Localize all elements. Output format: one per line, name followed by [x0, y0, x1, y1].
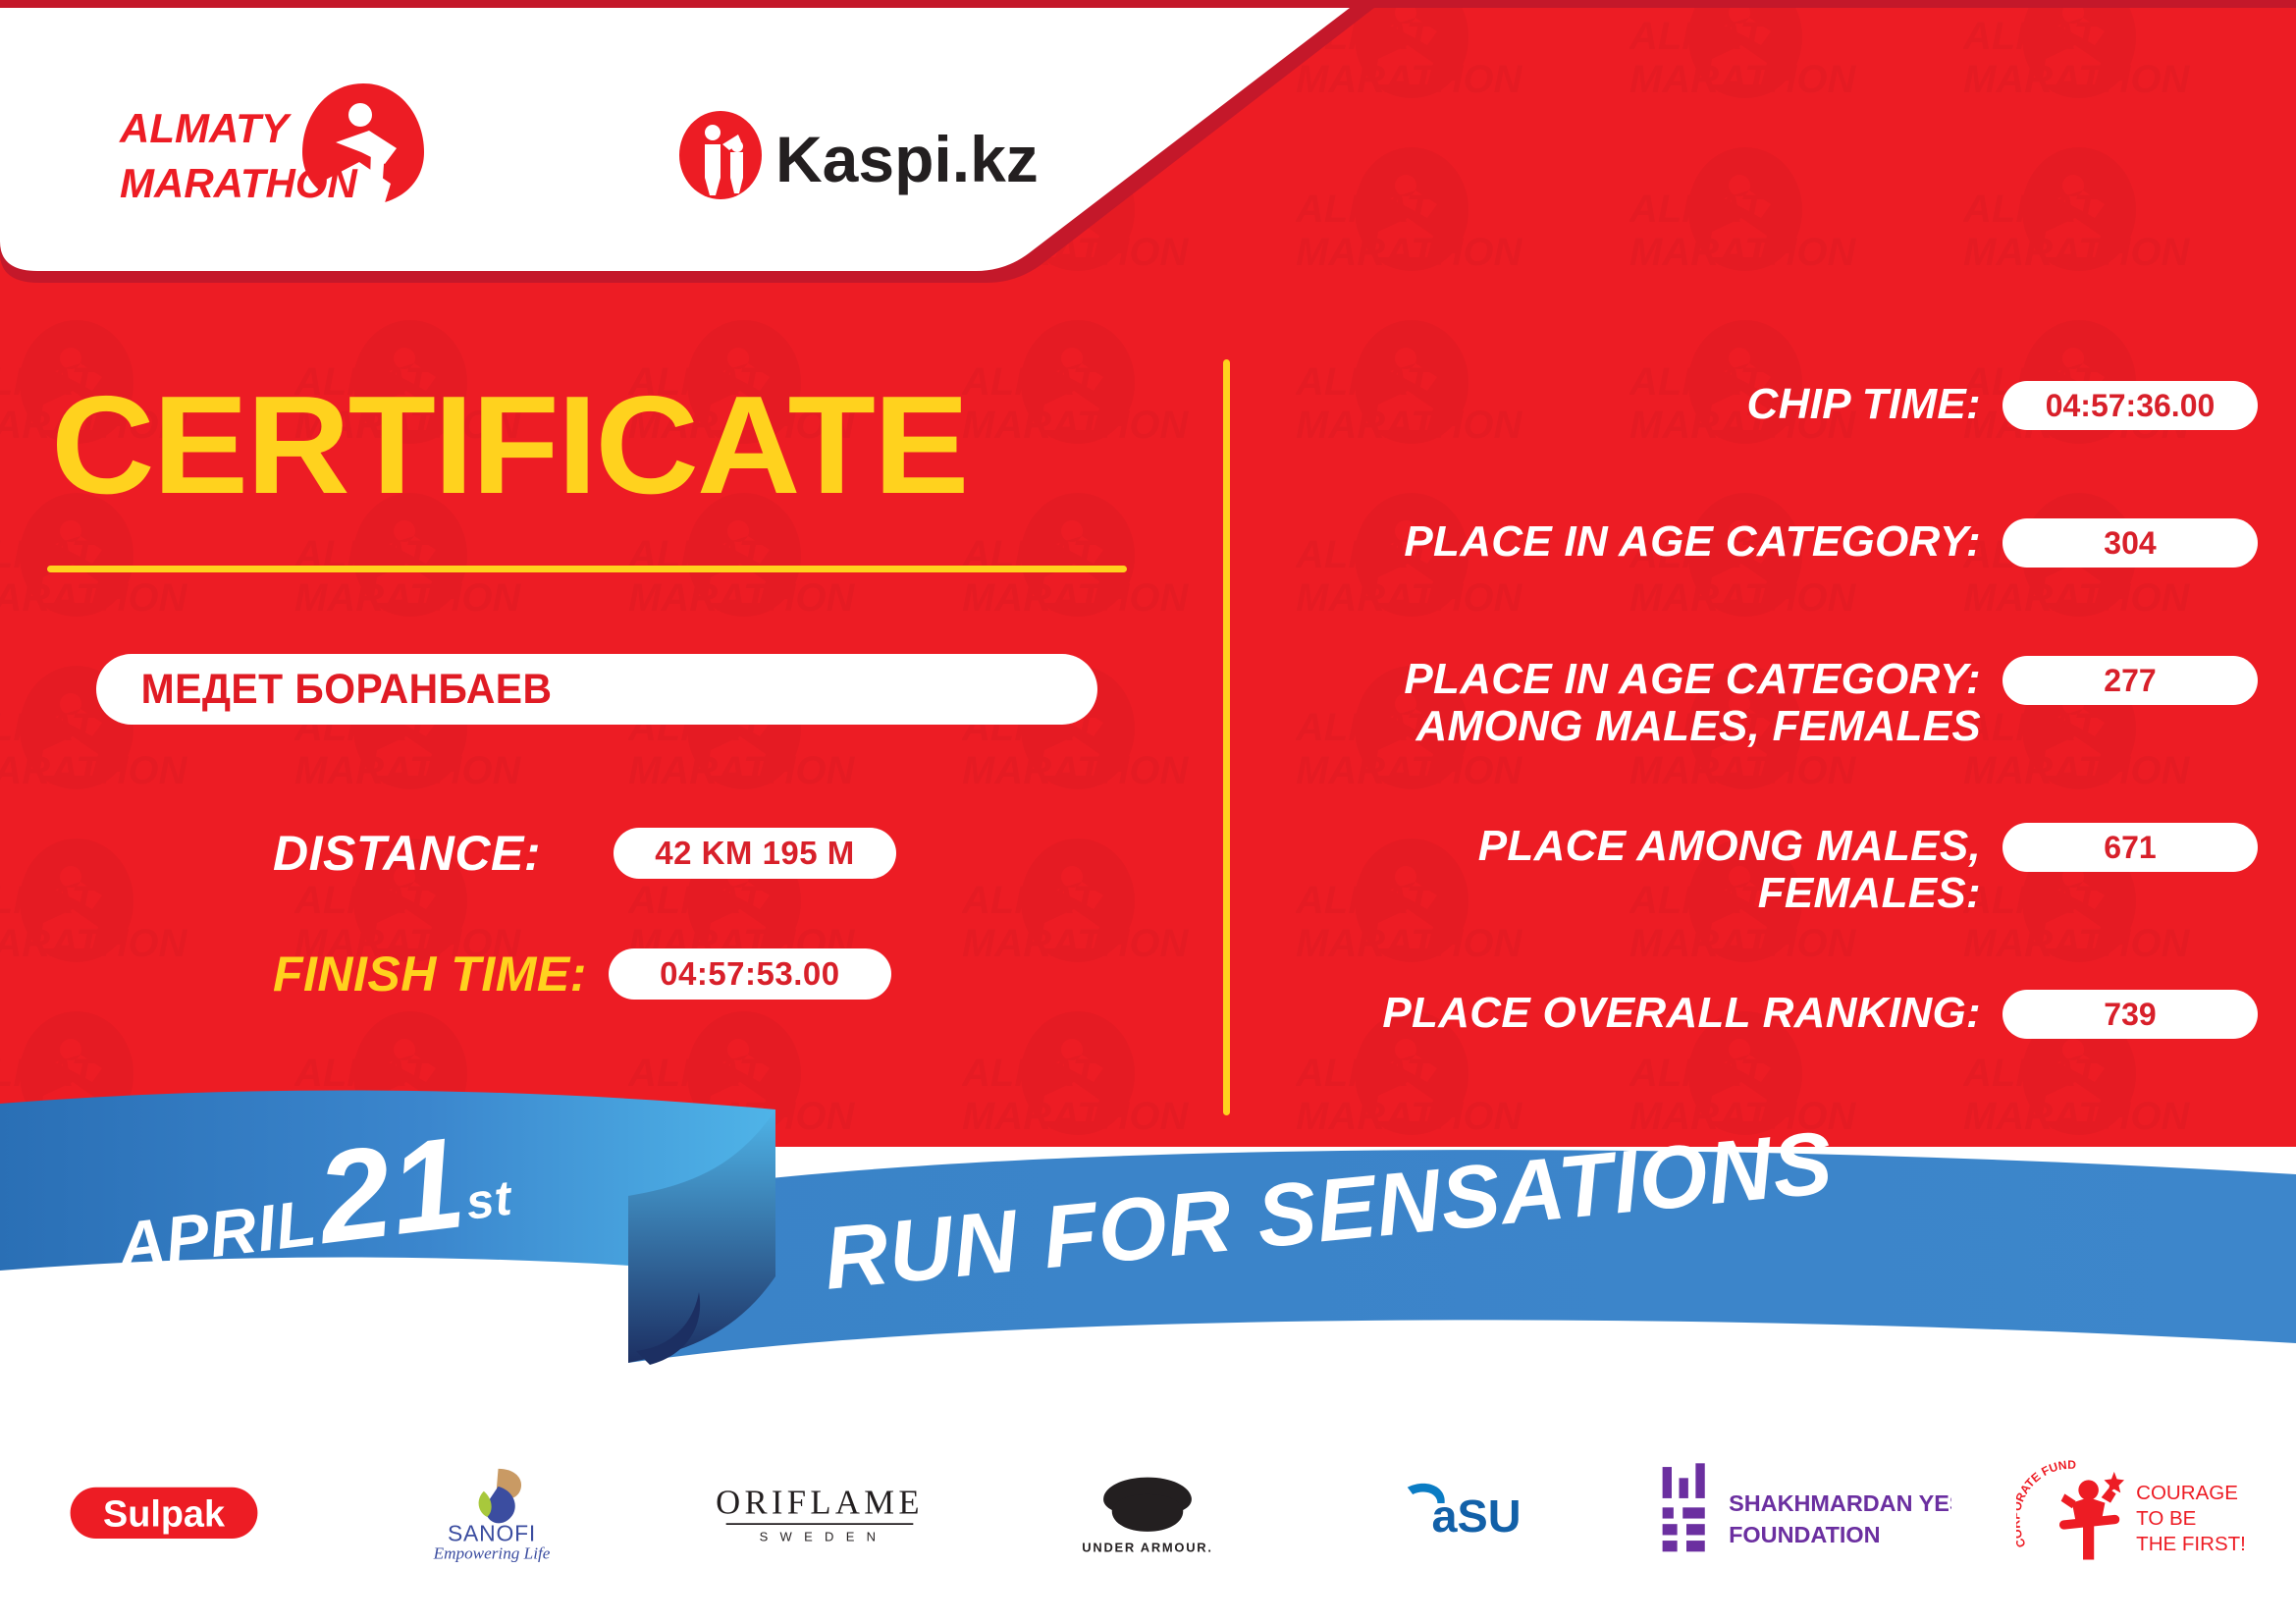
place-age-category-among-label: PLACE IN AGE CATEGORY:AMONG MALES, FEMAL…	[1276, 656, 2002, 749]
title-underline	[47, 566, 1127, 572]
sulpak-label: Sulpak	[103, 1493, 226, 1535]
finish-time-value-pill: 04:57:53.00	[609, 948, 891, 1000]
place-age-category-value: 304	[2104, 525, 2156, 562]
oriflame-tagline: S W E D E N	[760, 1529, 881, 1543]
distance-value: 42 KM 195 M	[655, 835, 855, 872]
stat-row-place-age-category-among: PLACE IN AGE CATEGORY:AMONG MALES, FEMAL…	[1276, 656, 2258, 749]
kaspi-logo: Kaspi.kz	[677, 111, 1070, 199]
chip-time-value: 04:57:36.00	[2046, 388, 2216, 424]
under-armour-logo: UNDER ARMOUR.	[1054, 1463, 1241, 1561]
distance-value-pill: 42 KM 195 M	[614, 828, 896, 879]
sponsor-sanofi: SANOFI Empowering Life	[328, 1438, 656, 1586]
red-body: ALMATY MARATHON ALMATY	[0, 8, 2296, 1147]
place-overall-ranking-value: 739	[2104, 997, 2156, 1033]
stat-row-place-overall-ranking: PLACE OVERALL RANKING: 739	[1276, 990, 2258, 1039]
place-age-category-among-value: 277	[2104, 663, 2156, 699]
courage-label-line3: THE FIRST!	[2137, 1533, 2247, 1555]
place-among-males-females-value-pill: 671	[2002, 823, 2258, 872]
ribbon-day: 21	[310, 1110, 473, 1271]
header-panel: ALMATY MARATHON Kaspi.kz	[0, 8, 1374, 283]
chip-time-value-pill: 04:57:36.00	[2002, 381, 2258, 430]
asu-label: aSU	[1431, 1490, 1521, 1542]
sponsor-yessenov-foundation: SHAKHMARDAN YESSENOV FOUNDATION	[1640, 1438, 1968, 1586]
courage-label-line1: COURAGE	[2137, 1482, 2239, 1504]
top-rule	[0, 0, 2296, 8]
yessenov-label-line1: SHAKHMARDAN YESSENOV	[1729, 1490, 1951, 1516]
svg-text:ALMATY: ALMATY	[119, 105, 293, 151]
sanofi-tagline: Empowering Life	[433, 1543, 551, 1562]
place-age-category-value-pill: 304	[2002, 518, 2258, 568]
sponsor-oriflame: ORIFLAME S W E D E N	[656, 1438, 984, 1586]
under-armour-label: UNDER ARMOUR.	[1083, 1541, 1213, 1555]
courage-to-be-the-first-logo: CORPORATE FUND COURAGE TO BE THE FIRST!	[2016, 1457, 2247, 1567]
oriflame-logo: ORIFLAME S W E D E N	[692, 1478, 947, 1546]
asu-logo: aSU	[1388, 1477, 1565, 1547]
certificate: ALMATY MARATHON ALMATY	[0, 0, 2296, 1624]
column-divider	[1223, 359, 1230, 1115]
finish-time-label: FINISH TIME:	[273, 946, 587, 1002]
shakhmardan-yessenov-foundation-logo: SHAKHMARDAN YESSENOV FOUNDATION	[1657, 1461, 1951, 1563]
stat-row-place-age-category: PLACE IN AGE CATEGORY: 304	[1276, 518, 2258, 568]
place-age-category-among-value-pill: 277	[2002, 656, 2258, 705]
place-age-category-label: PLACE IN AGE CATEGORY:	[1276, 518, 2002, 566]
page-title: CERTIFICATE	[51, 376, 967, 515]
distance-label: DISTANCE:	[273, 825, 541, 882]
participant-name-field: МЕДЕТ БОРАНБАЕВ	[96, 654, 1097, 725]
place-among-males-females-value: 671	[2104, 830, 2156, 866]
finish-time-value: 04:57:53.00	[660, 955, 839, 993]
svg-text:Kaspi.kz: Kaspi.kz	[775, 123, 1039, 195]
sanofi-logo: SANOFI Empowering Life	[403, 1457, 580, 1567]
chip-time-label: CHIP TIME:	[1276, 381, 2002, 428]
participant-name: МЕДЕТ БОРАНБАЕВ	[96, 666, 553, 714]
place-overall-ranking-value-pill: 739	[2002, 990, 2258, 1039]
row-finish-time: FINISH TIME: 04:57:53.00	[273, 946, 891, 1002]
sulpak-logo: Sulpak	[66, 1477, 262, 1547]
svg-text:MARATHON: MARATHON	[120, 160, 359, 206]
sponsor-asu: aSU	[1312, 1438, 1640, 1586]
sanofi-label: SANOFI	[448, 1520, 536, 1545]
row-distance: DISTANCE: 42 KM 195 M	[273, 825, 896, 882]
sponsor-bar: Sulpak SANOFI Empowering Life ORIFLAME S…	[0, 1414, 2296, 1610]
ribbon-day-suffix: st	[463, 1170, 515, 1230]
stat-row-place-among-males-females: PLACE AMONG MALES,FEMALES: 671	[1276, 823, 2258, 916]
place-among-males-females-label: PLACE AMONG MALES,FEMALES:	[1276, 823, 2002, 916]
oriflame-label: ORIFLAME	[716, 1485, 924, 1522]
almaty-marathon-logo: ALMATY MARATHON	[118, 81, 442, 209]
sponsor-under-armour: UNDER ARMOUR.	[984, 1438, 1311, 1586]
sponsor-courage-to-be-first: CORPORATE FUND COURAGE TO BE THE FIRST!	[1968, 1438, 2296, 1586]
yessenov-label-line2: FOUNDATION	[1729, 1522, 1880, 1547]
sponsor-sulpak: Sulpak	[0, 1438, 328, 1586]
place-overall-ranking-label: PLACE OVERALL RANKING:	[1276, 990, 2002, 1037]
left-column: CERTIFICATE МЕДЕТ БОРАНБАЕВ DISTANCE: 42…	[0, 302, 1207, 1108]
courage-label-line2: TO BE	[2137, 1507, 2197, 1530]
stat-row-chip-time: CHIP TIME: 04:57:36.00	[1276, 381, 2258, 430]
